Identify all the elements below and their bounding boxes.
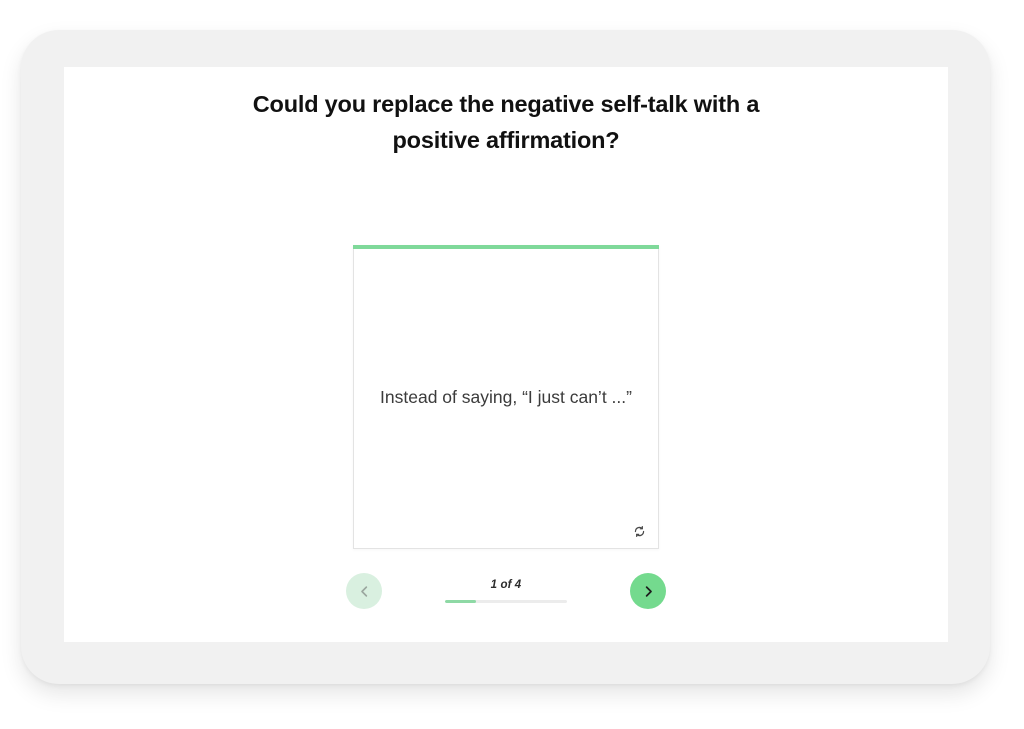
- carousel-navigation: 1 of 4: [346, 568, 666, 614]
- previous-card-button[interactable]: [346, 573, 382, 609]
- page-title: Could you replace the negative self-talk…: [216, 87, 796, 158]
- chevron-left-icon: [357, 584, 372, 599]
- flashcard[interactable]: Instead of saying, “I just can’t ...”: [353, 245, 659, 549]
- progress-fill: [445, 600, 476, 603]
- progress-label: 1 of 4: [491, 579, 522, 591]
- chevron-right-icon: [641, 584, 656, 599]
- flashcard-front-text: Instead of saying, “I just can’t ...”: [380, 385, 632, 410]
- tablet-screen: Could you replace the negative self-talk…: [64, 67, 948, 642]
- next-card-button[interactable]: [630, 573, 666, 609]
- flip-card-icon[interactable]: [632, 524, 647, 539]
- progress-indicator: 1 of 4: [445, 579, 567, 603]
- flashcard-body: Instead of saying, “I just can’t ...”: [354, 246, 658, 548]
- progress-track[interactable]: [445, 600, 567, 603]
- tablet-device-frame: Could you replace the negative self-talk…: [21, 30, 990, 684]
